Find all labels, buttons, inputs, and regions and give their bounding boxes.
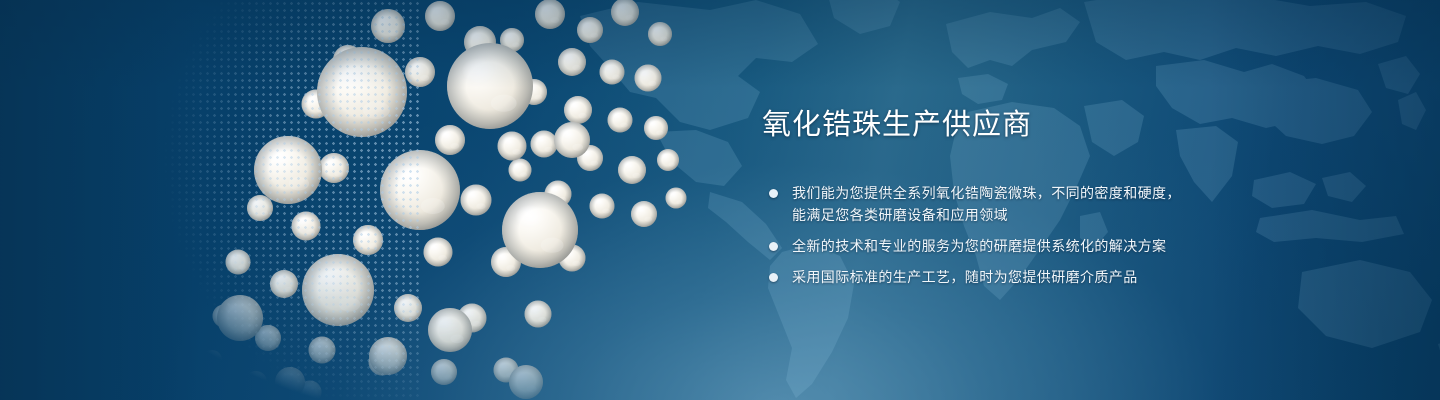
list-item: 我们能为您提供全系列氧化锆陶瓷微珠，不同的密度和硬度， 能满足您各类研磨设备和应… — [762, 182, 1362, 226]
banner-headline: 氧化锆珠生产供应商 — [762, 106, 1362, 144]
bullet-dot-icon — [769, 273, 778, 282]
list-item: 采用国际标准的生产工艺，随时为您提供研磨介质产品 — [762, 266, 1362, 288]
banner-feature-list: 我们能为您提供全系列氧化锆陶瓷微珠，不同的密度和硬度， 能满足您各类研磨设备和应… — [762, 182, 1362, 288]
bullet-text-line-1: 全新的技术和专业的服务为您的研磨提供系统化的解决方案 — [792, 235, 1362, 257]
list-item: 全新的技术和专业的服务为您的研磨提供系统化的解决方案 — [762, 235, 1362, 257]
bullet-text-line-1: 我们能为您提供全系列氧化锆陶瓷微珠，不同的密度和硬度， — [792, 182, 1362, 204]
bullet-text-line-1: 采用国际标准的生产工艺，随时为您提供研磨介质产品 — [792, 266, 1362, 288]
bullet-text-line-2: 能满足您各类研磨设备和应用领域 — [792, 204, 1362, 226]
hero-banner: 氧化锆珠生产供应商 我们能为您提供全系列氧化锆陶瓷微珠，不同的密度和硬度， 能满… — [0, 0, 1440, 400]
banner-copy: 氧化锆珠生产供应商 我们能为您提供全系列氧化锆陶瓷微珠，不同的密度和硬度， 能满… — [762, 106, 1362, 288]
zirconia-beads-photo — [120, 0, 720, 400]
bullet-dot-icon — [769, 189, 778, 198]
bullet-dot-icon — [769, 242, 778, 251]
